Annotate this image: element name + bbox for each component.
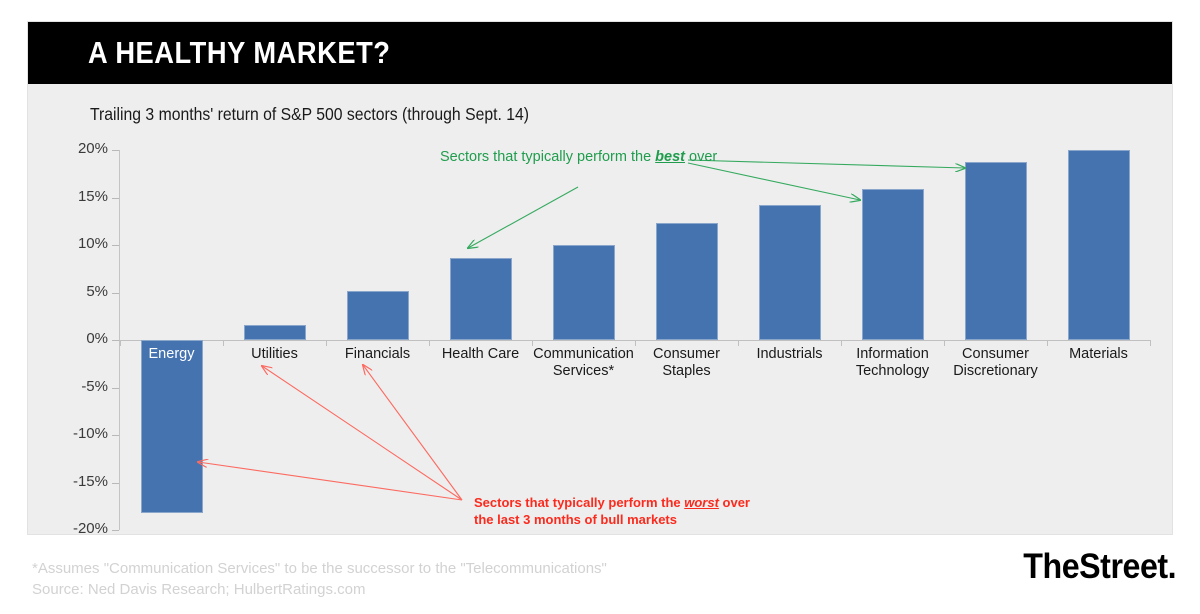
chart-card: A HEALTHY MARKET? Trailing 3 months' ret… — [28, 22, 1172, 534]
x-axis-category-label: CommunicationServices* — [532, 346, 635, 380]
bar[interactable] — [965, 162, 1027, 340]
bar-slot: ConsumerStaples — [635, 128, 738, 523]
y-axis-tick-label: 10% — [48, 235, 108, 252]
bar-slot: Utilities — [223, 128, 326, 523]
x-axis-category-label: ConsumerStaples — [635, 346, 738, 380]
y-axis-tick-label: -5% — [48, 378, 108, 395]
x-axis-category-label: Financials — [326, 346, 429, 363]
bar-slot: ConsumerDiscretionary — [944, 128, 1047, 523]
x-axis-category-label: Energy — [120, 346, 223, 363]
y-axis-tick — [112, 388, 119, 389]
bar[interactable] — [1068, 150, 1130, 340]
footer-source: *Assumes "Communication Services" to be … — [32, 558, 607, 600]
bar[interactable] — [553, 245, 615, 340]
x-axis-tick — [1150, 340, 1151, 346]
red-annotation-text: Sectors that typically perform the worst… — [474, 494, 764, 528]
y-axis-tick-label: 5% — [48, 283, 108, 300]
emphasis-word: best — [655, 149, 685, 165]
bar-slot: Health Care — [429, 128, 532, 523]
bar[interactable] — [759, 205, 821, 340]
y-axis-tick-label: 15% — [48, 188, 108, 205]
chart-subtitle: Trailing 3 months' return of S&P 500 sec… — [90, 104, 529, 125]
page-title: A HEALTHY MARKET? — [88, 35, 390, 71]
y-axis-tick — [112, 293, 119, 294]
bar-slot: Materials — [1047, 128, 1150, 523]
x-axis-category-label: Utilities — [223, 346, 326, 363]
footer-source-line: Source: Ned Davis Research; HulbertRatin… — [32, 579, 607, 600]
y-axis-tick — [112, 245, 119, 246]
x-axis-category-label: Industrials — [738, 346, 841, 363]
bar-slot: CommunicationServices* — [532, 128, 635, 523]
green-annotation-text: Sectors that typically perform the best … — [440, 149, 717, 165]
y-axis-tick — [112, 340, 119, 341]
plot-area: 20%15%10%5%0%-5%-10%-15%-20% EnergyUtili… — [90, 128, 1150, 523]
bar[interactable] — [347, 291, 409, 340]
bar[interactable] — [656, 223, 718, 340]
y-axis-tick-label: -15% — [48, 473, 108, 490]
y-axis-tick-label: -10% — [48, 425, 108, 442]
title-band: A HEALTHY MARKET? — [28, 22, 1172, 84]
bar-slot: Energy — [120, 128, 223, 523]
y-axis-tick — [112, 198, 119, 199]
thestreet-logo: TheStreet. — [1023, 547, 1176, 587]
y-axis-tick — [112, 150, 119, 151]
footer-note: *Assumes "Communication Services" to be … — [32, 558, 607, 579]
y-axis-tick — [112, 483, 119, 484]
y-axis-tick — [112, 435, 119, 436]
x-axis-category-label: Health Care — [429, 346, 532, 363]
x-axis-category-label: ConsumerDiscretionary — [944, 346, 1047, 380]
bar-slot: InformationTechnology — [841, 128, 944, 523]
bar[interactable] — [244, 325, 306, 340]
bar[interactable] — [450, 258, 512, 340]
bar[interactable] — [862, 189, 924, 340]
bars-group: EnergyUtilitiesFinancialsHealth CareComm… — [120, 128, 1150, 523]
x-axis-category-label: InformationTechnology — [841, 346, 944, 380]
y-axis-tick-label: 20% — [48, 140, 108, 157]
emphasis-word: worst — [684, 495, 719, 510]
y-axis-tick-label: 0% — [48, 330, 108, 347]
bar[interactable] — [141, 340, 203, 513]
bar-slot: Industrials — [738, 128, 841, 523]
bar-slot: Financials — [326, 128, 429, 523]
x-axis-category-label: Materials — [1047, 346, 1150, 363]
y-axis-tick-label: -20% — [48, 520, 108, 537]
y-axis-tick — [112, 530, 119, 531]
